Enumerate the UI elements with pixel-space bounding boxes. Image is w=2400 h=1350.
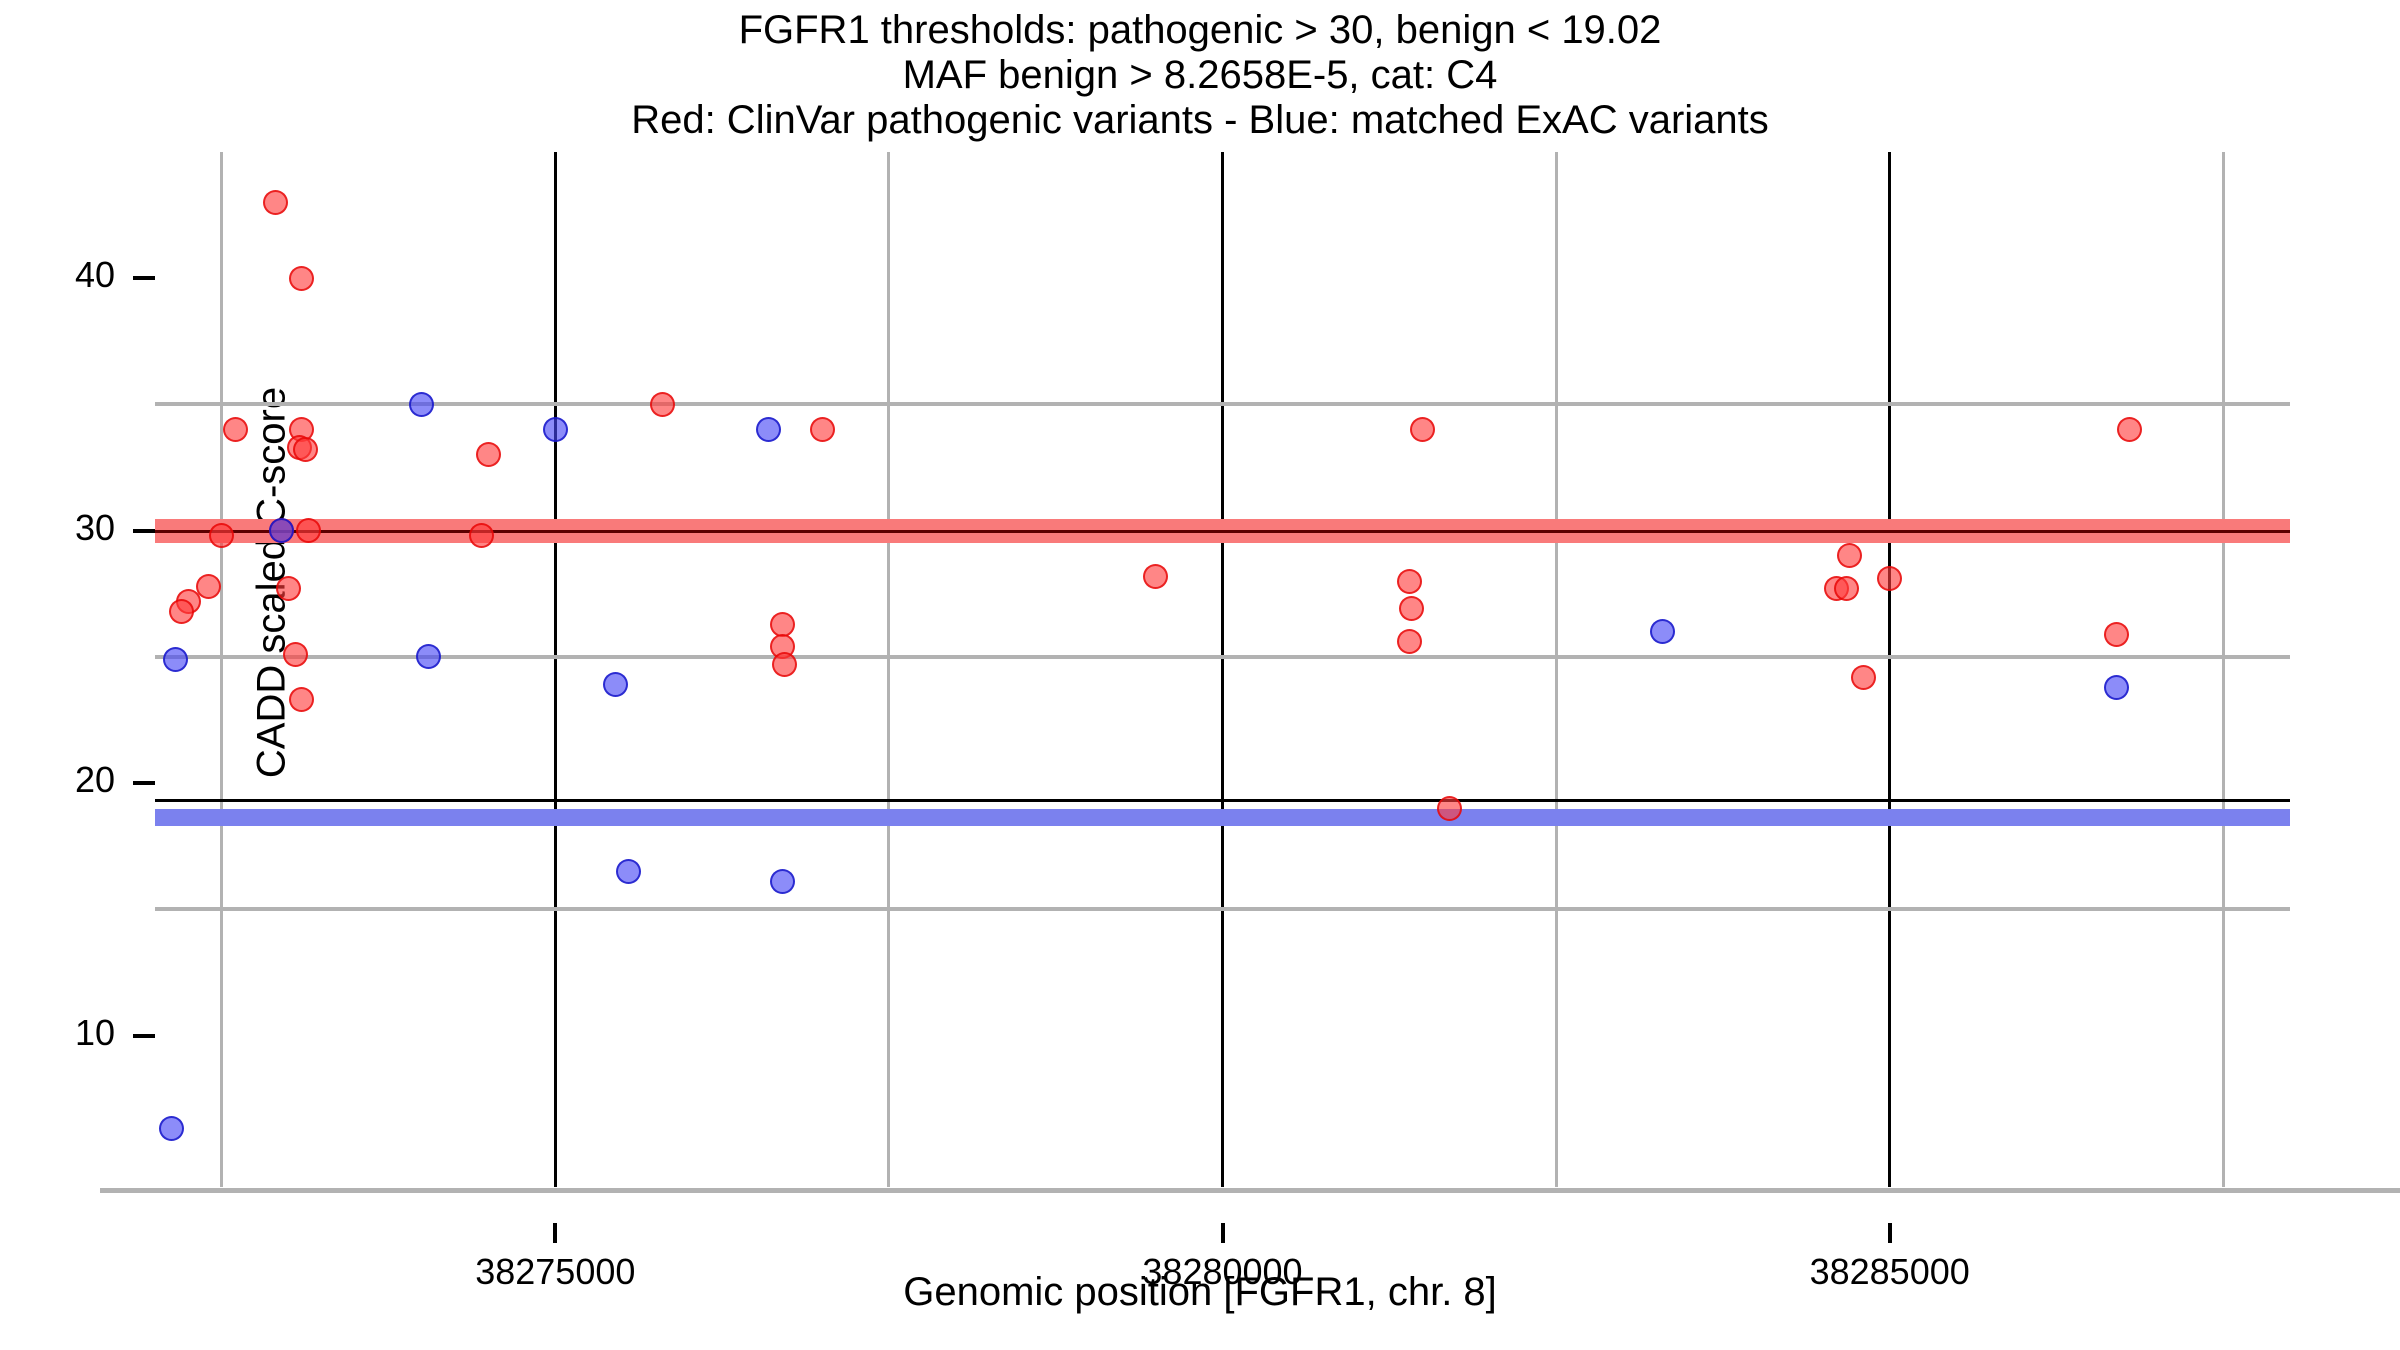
x-tick [553,1223,557,1243]
pathogenic-variant-point [1399,596,1424,621]
y-tick [133,276,155,280]
exac-variant-point [416,644,441,669]
pathogenic-variant-point [772,652,797,677]
pathogenic-variant-point [293,437,318,462]
title-line-1: FGFR1 thresholds: pathogenic > 30, benig… [0,8,2400,53]
exac-variant-point [2104,675,2129,700]
pathogenic-variant-point [1834,576,1859,601]
x-axis-line [100,1188,2400,1193]
exac-variant-point [770,869,795,894]
x-tick [1888,1223,1892,1243]
exac-variant-point [1650,619,1675,644]
exac-variant-point [159,1116,184,1141]
exac-variant-point [756,417,781,442]
pathogenic-variant-point [276,576,301,601]
y-gridline [155,655,2290,659]
y-tick [133,1034,155,1038]
y-tick [133,781,155,785]
x-gridline-major [1221,152,1224,1187]
pathogenic-variant-point [1397,629,1422,654]
y-gridline [155,907,2290,911]
y-tick-label: 10 [0,1012,115,1054]
pathogenic-variant-point [1410,417,1435,442]
x-gridline-minor [887,152,890,1187]
pathogenic-variant-point [296,518,321,543]
x-gridline-major [554,152,557,1187]
y-tick-label: 20 [0,759,115,801]
pathogenic-variant-point [169,599,194,624]
x-gridline-minor [2222,152,2225,1187]
pathogenic-variant-point [263,190,288,215]
x-gridline-minor [220,152,223,1187]
plot-area [155,152,2290,1187]
pathogenic-variant-point [476,442,501,467]
title-line-3: Red: ClinVar pathogenic variants - Blue:… [0,98,2400,143]
benign-threshold-band [155,809,2290,826]
pathogenic-variant-point [223,417,248,442]
pathogenic-variant-point [283,642,308,667]
pathogenic-variant-point [209,523,234,548]
x-gridline-major [1888,152,1891,1187]
title-line-2: MAF benign > 8.2658E-5, cat: C4 [0,53,2400,98]
pathogenic-variant-point [1837,543,1862,568]
y-gridline [155,402,2290,406]
x-tick-label: 38285000 [1730,1251,2050,1293]
pathogenic-variant-point [469,523,494,548]
chart-canvas: FGFR1 thresholds: pathogenic > 30, benig… [0,0,2400,1350]
chart-title: FGFR1 thresholds: pathogenic > 30, benig… [0,8,2400,143]
pathogenic-variant-point [2104,622,2129,647]
pathogenic-variant-point [770,612,795,637]
pathogenic-variant-point [1851,665,1876,690]
pathogenic-variant-point [650,392,675,417]
exac-variant-point [616,859,641,884]
x-tick-label: 38280000 [1063,1251,1383,1293]
pathogenic-variant-point [1397,569,1422,594]
pathogenic-variant-point [810,417,835,442]
pathogenic-variant-point [1437,796,1462,821]
exac-variant-point [603,672,628,697]
pathogenic-variant-point [1143,564,1168,589]
x-tick-label: 38275000 [395,1251,715,1293]
x-tick [1221,1223,1225,1243]
pathogenic-variant-point [289,687,314,712]
pathogenic-variant-point [289,266,314,291]
pathogenic-variant-point [2117,417,2142,442]
exac-variant-point [163,647,188,672]
y-tick-label: 30 [0,507,115,549]
y-tick [133,529,155,533]
exac-variant-point [409,392,434,417]
x-gridline-minor [1555,152,1558,1187]
benign-threshold-line [155,799,2290,802]
exac-variant-point [543,417,568,442]
y-tick-label: 40 [0,254,115,296]
pathogenic-variant-point [1877,566,1902,591]
